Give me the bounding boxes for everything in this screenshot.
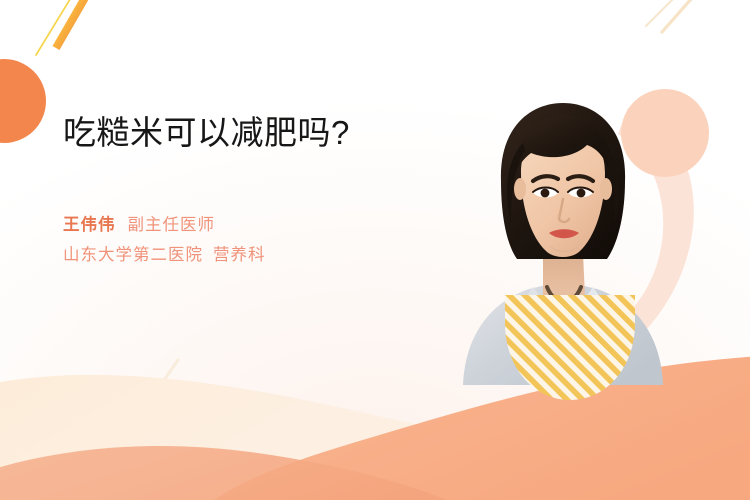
doctor-article-cover: 吃糙米可以减肥吗? 王伟伟副主任医师 山东大学第二医院营养科	[0, 0, 750, 500]
ear-right	[600, 178, 612, 200]
pupil-left	[541, 189, 550, 198]
doctor-department: 营养科	[213, 246, 266, 264]
page-title: 吃糙米可以减肥吗?	[63, 112, 393, 154]
stripe-fill	[505, 295, 635, 400]
ear-left	[514, 178, 526, 200]
orange-circle-decoration	[0, 59, 46, 143]
pupil-right	[577, 189, 586, 198]
wave-salmon-secondary	[0, 446, 470, 500]
byline: 王伟伟副主任医师 山东大学第二医院营养科	[63, 210, 393, 271]
top-right-diagonal-lines	[646, 0, 692, 32]
bottom-diagonal-line	[153, 360, 178, 396]
doctor-name: 王伟伟	[63, 216, 116, 234]
top-left-diagonal-lines	[36, 0, 86, 55]
text-content: 吃糙米可以减肥吗? 王伟伟副主任医师 山东大学第二医院营养科	[63, 112, 393, 271]
doctor-hospital: 山东大学第二医院	[63, 246, 203, 264]
striped-circle-svg	[505, 295, 635, 400]
striped-circle-decoration	[505, 295, 635, 400]
wave-light	[0, 375, 750, 500]
doctor-rank: 副主任医师	[128, 216, 216, 234]
byline-row-affiliation: 山东大学第二医院营养科	[63, 240, 393, 271]
byline-row-doctor: 王伟伟副主任医师	[63, 210, 393, 241]
